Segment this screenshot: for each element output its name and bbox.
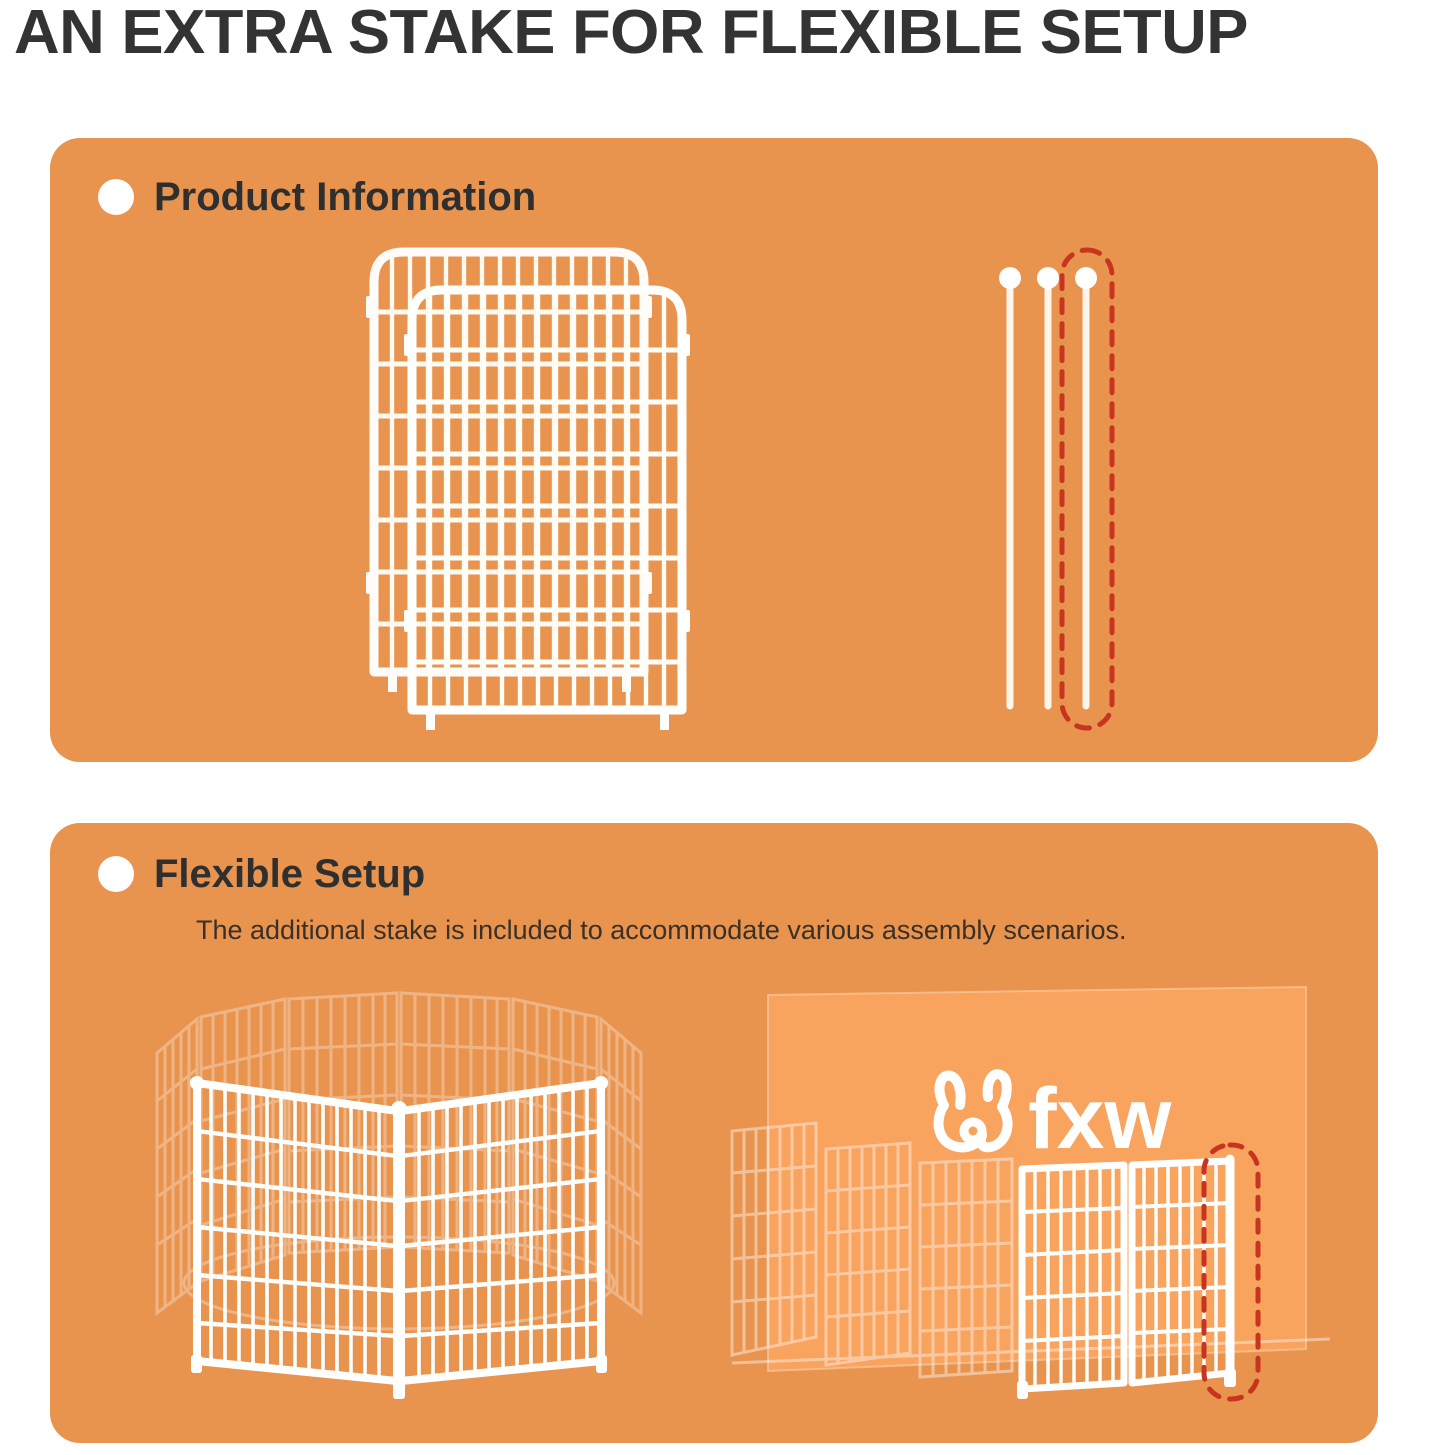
- fxw-wordmark: fxw: [1028, 1071, 1172, 1167]
- fence-panels-pair-illustration: [350, 238, 770, 738]
- run-end-post: [1224, 1159, 1236, 1387]
- card-title: Flexible Setup: [154, 851, 425, 897]
- card-title: Product Information: [154, 174, 536, 220]
- playpen-front-right-panel: [401, 1076, 608, 1381]
- ground-stakes-illustration: [970, 238, 1170, 738]
- card-header-product-information: Product Information: [98, 174, 536, 220]
- wall-run-setup-illustration: fxw: [730, 973, 1350, 1413]
- white-dot-icon: [98, 179, 134, 215]
- white-dot-icon: [98, 856, 134, 892]
- infographic-page: AN EXTRA STAKE FOR FLEXIBLE SETUP Produc…: [0, 0, 1432, 1455]
- card-header-flexible-setup: Flexible Setup: [98, 851, 425, 897]
- octagon-playpen-illustration: [135, 983, 695, 1413]
- page-title: AN EXTRA STAKE FOR FLEXIBLE SETUP: [14, 2, 1432, 64]
- card-flexible-setup: Flexible Setup The additional stake is i…: [50, 823, 1378, 1443]
- playpen-front-left-panel: [190, 1076, 397, 1381]
- card-product-information: Product Information: [50, 138, 1378, 762]
- card-subtitle: The additional stake is included to acco…: [196, 913, 1126, 947]
